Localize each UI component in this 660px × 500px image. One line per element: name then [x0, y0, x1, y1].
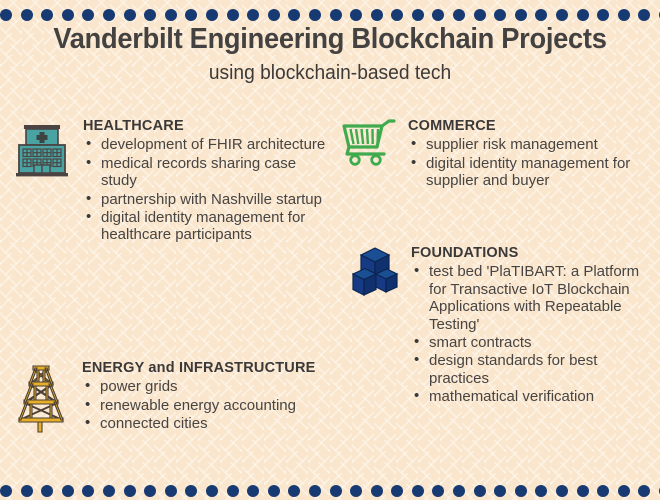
- border-dot: [124, 485, 136, 497]
- section-heading-foundations: FOUNDATIONS: [411, 245, 655, 262]
- border-dot: [597, 9, 609, 21]
- shopping-cart-icon: [336, 116, 398, 168]
- bottom-dot-border: [0, 483, 660, 499]
- border-dot: [412, 9, 424, 21]
- border-dot: [638, 485, 650, 497]
- border-dot: [535, 485, 547, 497]
- border-dot: [0, 9, 12, 21]
- list-item: renewable energy accounting: [82, 397, 334, 414]
- poster-header: Vanderbilt Engineering Blockchain Projec…: [0, 24, 660, 84]
- border-dot: [247, 9, 259, 21]
- section-heading-commerce: COMMERCE: [408, 118, 656, 135]
- list-item: medical records sharing case study: [83, 155, 332, 190]
- border-dot: [21, 9, 33, 21]
- border-dot: [185, 485, 197, 497]
- list-item: digital identity management for healthca…: [83, 209, 332, 244]
- border-dot: [618, 9, 630, 21]
- border-dot: [535, 9, 547, 21]
- list-item: design standards for best practices: [411, 352, 655, 387]
- list-item: test bed 'PlaTIBART: a Platform for Tran…: [411, 263, 655, 333]
- border-dot: [474, 485, 486, 497]
- border-dot: [371, 9, 383, 21]
- bullet-list-foundations: test bed 'PlaTIBART: a Platform for Tran…: [411, 263, 655, 405]
- bullet-list-commerce: supplier risk management digital identit…: [408, 136, 656, 189]
- border-dot: [432, 485, 444, 497]
- border-dot: [103, 9, 115, 21]
- bullet-list-energy: power grids renewable energy accounting …: [82, 378, 334, 432]
- border-dot: [288, 9, 300, 21]
- border-dot: [638, 9, 650, 21]
- border-dot: [494, 485, 506, 497]
- section-foundations: FOUNDATIONS test bed 'PlaTIBART: a Platf…: [345, 243, 660, 407]
- section-healthcare: HEALTHCARE development of FHIR architect…: [12, 116, 332, 245]
- border-dot: [556, 485, 568, 497]
- section-heading-healthcare: HEALTHCARE: [83, 118, 332, 135]
- border-dot: [309, 485, 321, 497]
- list-item: connected cities: [82, 415, 334, 432]
- border-dot: [453, 485, 465, 497]
- list-item: supplier risk management: [408, 136, 656, 153]
- border-dot: [494, 9, 506, 21]
- border-dot: [371, 485, 383, 497]
- border-dot: [474, 9, 486, 21]
- border-dot: [453, 9, 465, 21]
- border-dot: [144, 9, 156, 21]
- border-dot: [597, 485, 609, 497]
- infographic-poster: Vanderbilt Engineering Blockchain Projec…: [0, 0, 660, 500]
- border-dot: [82, 485, 94, 497]
- blocks-icon: [345, 243, 401, 305]
- border-dot: [21, 485, 33, 497]
- border-dot: [330, 9, 342, 21]
- list-item: digital identity management for supplier…: [408, 155, 656, 190]
- border-dot: [515, 485, 527, 497]
- border-dot: [412, 485, 424, 497]
- section-commerce: COMMERCE supplier risk management digita…: [336, 116, 656, 191]
- border-dot: [185, 9, 197, 21]
- border-dot: [391, 9, 403, 21]
- border-dot: [515, 9, 527, 21]
- power-tower-icon: [12, 358, 70, 438]
- border-dot: [268, 485, 280, 497]
- border-dot: [62, 485, 74, 497]
- border-dot: [577, 9, 589, 21]
- border-dot: [41, 485, 53, 497]
- border-dot: [350, 485, 362, 497]
- border-dot: [227, 9, 239, 21]
- section-energy-infrastructure: ENERGY and INFRASTRUCTURE power grids re…: [12, 358, 334, 438]
- list-item: mathematical verification: [411, 388, 655, 405]
- border-dot: [309, 9, 321, 21]
- hospital-icon: [12, 116, 72, 178]
- list-item: power grids: [82, 378, 334, 395]
- border-dot: [247, 485, 259, 497]
- list-item: development of FHIR architecture: [83, 136, 332, 153]
- border-dot: [556, 9, 568, 21]
- border-dot: [330, 485, 342, 497]
- border-dot: [618, 485, 630, 497]
- border-dot: [206, 9, 218, 21]
- border-dot: [0, 485, 12, 497]
- border-dot: [432, 9, 444, 21]
- border-dot: [391, 485, 403, 497]
- border-dot: [165, 485, 177, 497]
- page-title: Vanderbilt Engineering Blockchain Projec…: [20, 24, 640, 56]
- border-dot: [577, 485, 589, 497]
- border-dot: [268, 9, 280, 21]
- border-dot: [82, 9, 94, 21]
- border-dot: [62, 9, 74, 21]
- border-dot: [227, 485, 239, 497]
- border-dot: [350, 9, 362, 21]
- list-item: partnership with Nashville startup: [83, 191, 332, 208]
- list-item: smart contracts: [411, 334, 655, 351]
- border-dot: [144, 485, 156, 497]
- page-subtitle: using blockchain-based tech: [13, 62, 647, 84]
- border-dot: [103, 485, 115, 497]
- border-dot: [41, 9, 53, 21]
- border-dot: [288, 485, 300, 497]
- border-dot: [165, 9, 177, 21]
- top-dot-border: [0, 7, 660, 23]
- border-dot: [206, 485, 218, 497]
- border-dot: [124, 9, 136, 21]
- bullet-list-healthcare: development of FHIR architecture medical…: [83, 136, 332, 243]
- section-heading-energy: ENERGY and INFRASTRUCTURE: [82, 360, 334, 377]
